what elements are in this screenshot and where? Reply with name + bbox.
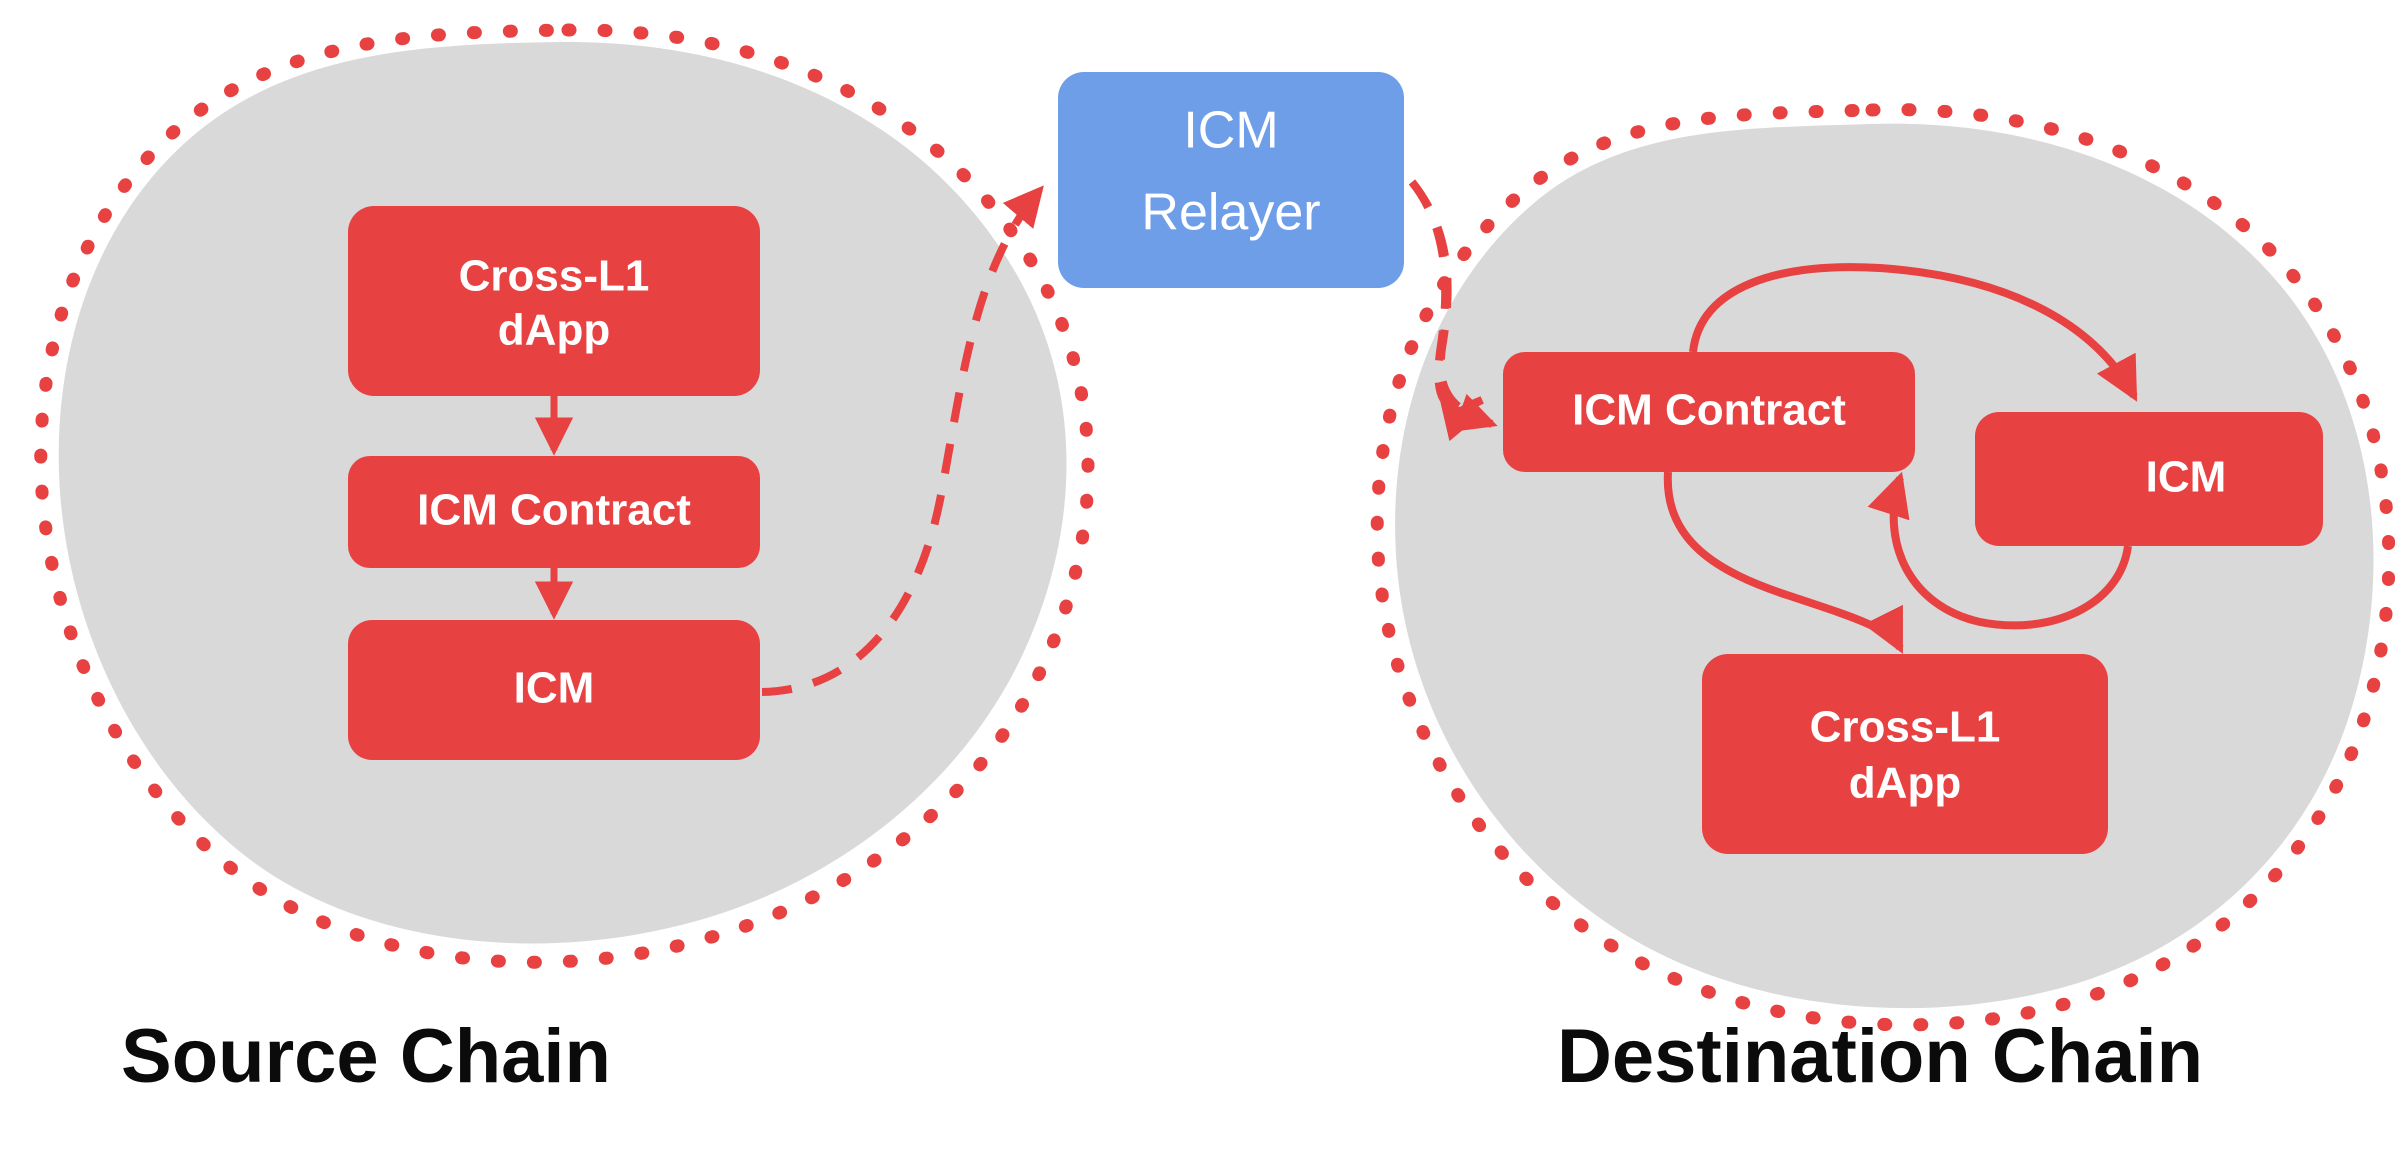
node-dst-dapp-label-line1: Cross-L1 <box>1810 703 2001 752</box>
destination-chain-blob-fill <box>1395 124 2373 1009</box>
node-icm-relayer-label-line2: Relayer <box>1141 184 1320 242</box>
node-src-icm[interactable]: ICM <box>348 620 760 760</box>
node-src-dapp-label-line1: Cross-L1 <box>459 252 650 301</box>
node-dst-icm-contract-label: ICM Contract <box>1572 386 1846 435</box>
node-src-dapp-box[interactable] <box>348 206 760 396</box>
destination-chain-label: Destination Chain <box>1557 1014 2203 1099</box>
node-src-icm-contract[interactable]: ICM Contract <box>348 456 760 568</box>
node-dst-icm[interactable]: ICM <box>1975 412 2323 546</box>
diagram-canvas: Cross-L1 dApp ICM Contract ICM ICM Relay… <box>0 0 2406 1160</box>
node-dst-dapp-label-line2: dApp <box>1849 759 1961 808</box>
node-icm-relayer-label-line1: ICM <box>1183 102 1278 160</box>
icm-architecture-diagram: Cross-L1 dApp ICM Contract ICM ICM Relay… <box>0 0 2406 1160</box>
node-src-dapp[interactable]: Cross-L1 dApp <box>348 206 760 396</box>
destination-chain-region <box>1377 110 2389 1025</box>
node-dst-icm-contract[interactable]: ICM Contract <box>1503 352 1915 472</box>
node-dst-dapp[interactable]: Cross-L1 dApp <box>1702 654 2108 854</box>
node-dst-icm-label: ICM <box>2146 453 2227 502</box>
node-dst-dapp-box[interactable] <box>1702 654 2108 854</box>
source-chain-label: Source Chain <box>121 1014 611 1099</box>
node-src-icm-contract-label: ICM Contract <box>417 486 691 535</box>
node-src-dapp-label-line2: dApp <box>498 306 610 355</box>
node-icm-relayer[interactable]: ICM Relayer <box>1058 72 1404 288</box>
node-src-icm-label: ICM <box>514 664 595 713</box>
